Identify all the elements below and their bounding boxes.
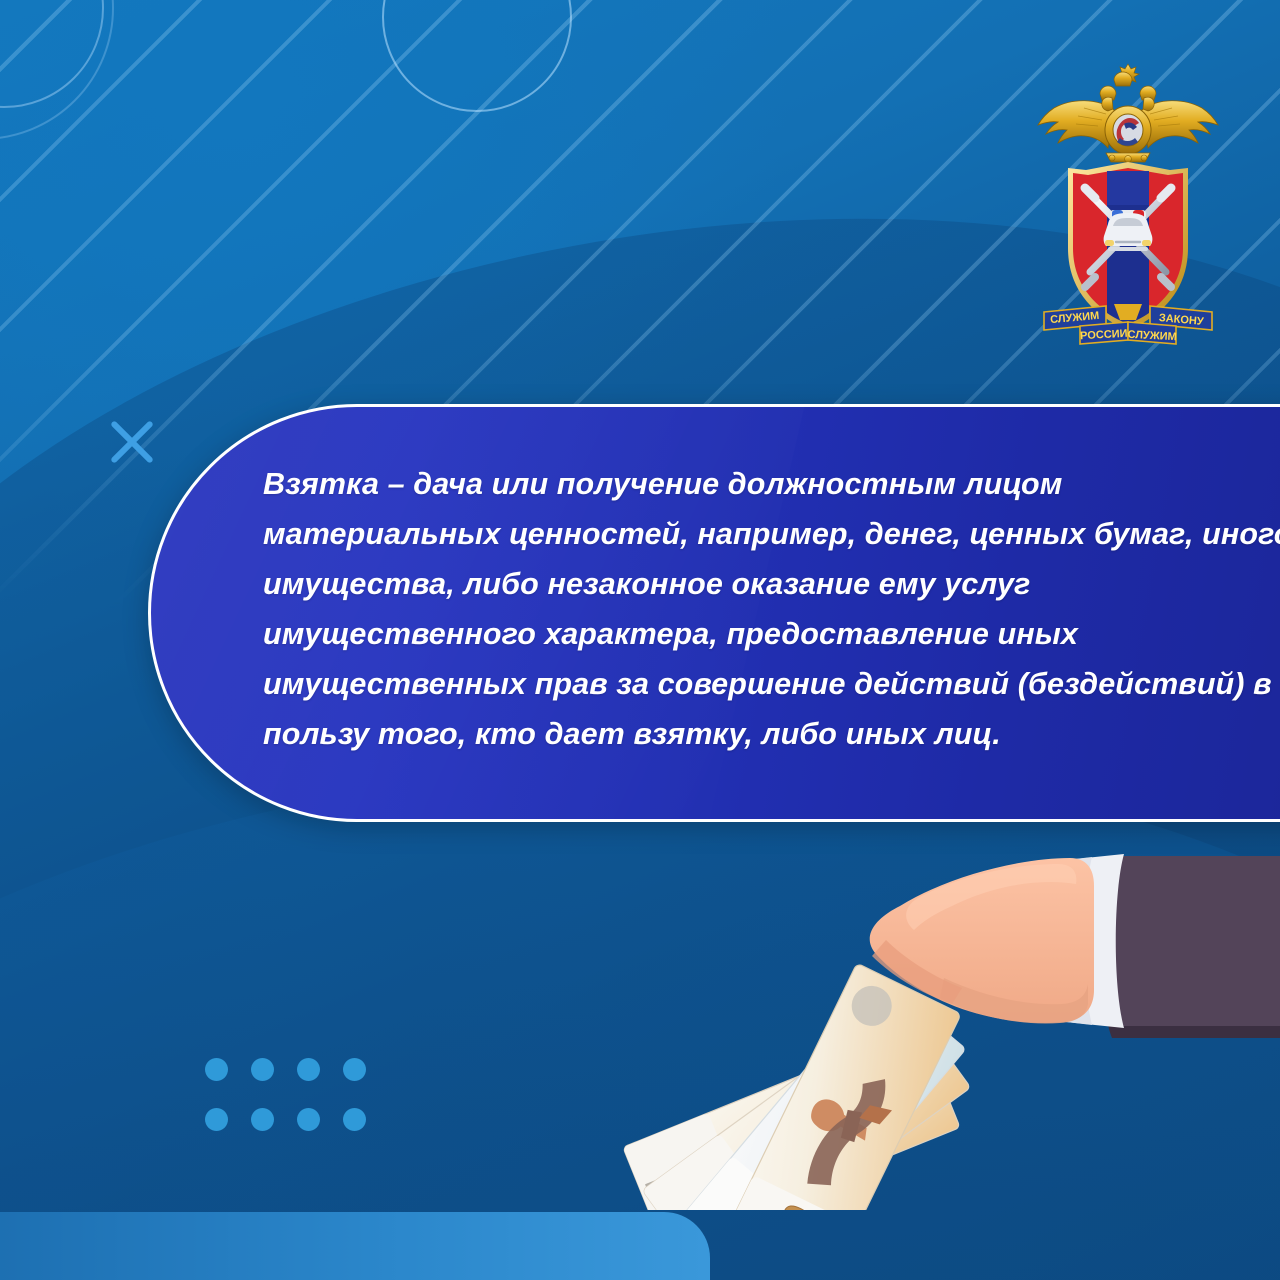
dot-icon xyxy=(205,1108,228,1131)
dot-icon xyxy=(297,1058,320,1081)
svg-text:РОССИИ: РОССИИ xyxy=(1080,328,1128,342)
dot-grid-decoration xyxy=(205,1058,389,1158)
dot-icon xyxy=(205,1058,228,1081)
police-car-icon xyxy=(1104,210,1153,251)
motto-banner: СЛУЖИМ ЗАКОНУ РОССИИ СЛУЖИМ xyxy=(1044,304,1212,344)
dot-icon xyxy=(343,1058,366,1081)
circle-outline-icon xyxy=(0,0,114,140)
hand-holding-banknotes-illustration: 5000 5000 1000 xyxy=(600,790,1280,1210)
circle-outline-icon xyxy=(382,0,572,112)
bottom-accent-bar xyxy=(0,1212,710,1280)
poster-canvas: СЛУЖИМ ЗАКОНУ РОССИИ СЛУЖИМ Взятка – дач… xyxy=(0,0,1280,1280)
dot-icon xyxy=(343,1108,366,1131)
dot-icon xyxy=(297,1108,320,1131)
dot-icon xyxy=(251,1108,274,1131)
mvd-emblem: СЛУЖИМ ЗАКОНУ РОССИИ СЛУЖИМ xyxy=(1028,58,1228,348)
double-headed-eagle-icon xyxy=(1038,64,1218,162)
dot-icon xyxy=(251,1058,274,1081)
bribe-definition-text: Взятка – дача или получение должностным … xyxy=(151,407,1280,759)
circle-outline-icon xyxy=(0,0,104,108)
banknote-group: 5000 5000 1000 xyxy=(623,963,971,1210)
definition-card: Взятка – дача или получение должностным … xyxy=(148,404,1280,822)
